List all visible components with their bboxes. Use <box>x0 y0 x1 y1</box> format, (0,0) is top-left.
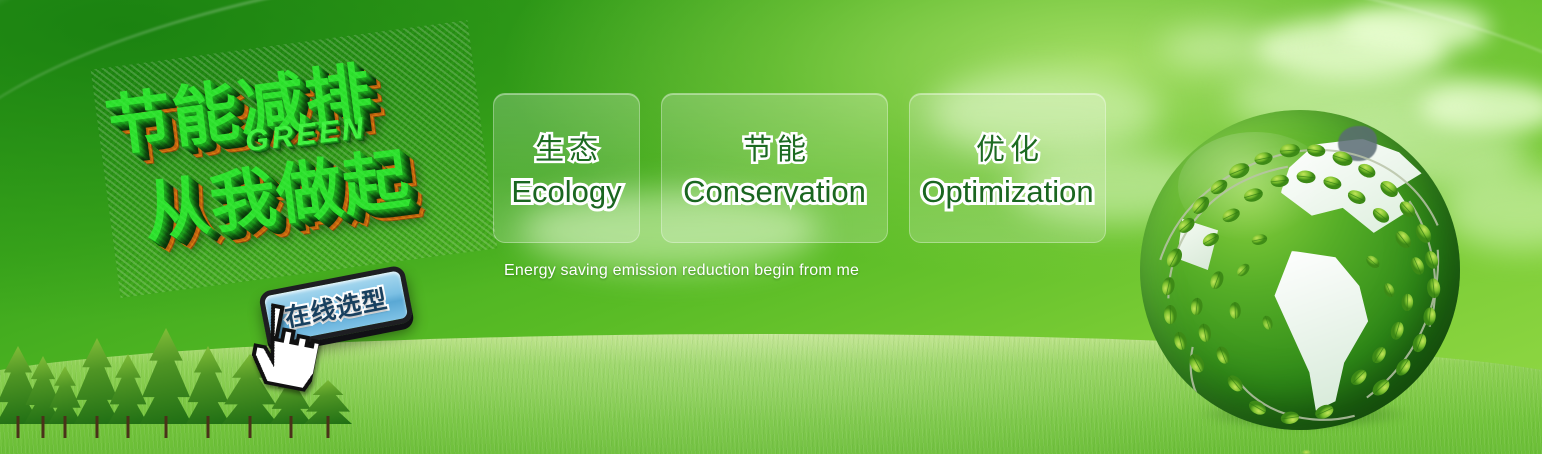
feature-panels: 生态 Ecology 节能 Conservation 优化 Optimizati… <box>493 93 1106 243</box>
feature-panel-ecology[interactable]: 生态 Ecology <box>493 93 640 243</box>
conifer-tree-icon <box>304 380 352 438</box>
panel-label-cn: 节能 <box>738 126 811 168</box>
panel-label-en: Ecology <box>511 174 621 210</box>
tagline-text: Energy saving emission reduction begin f… <box>504 262 859 280</box>
panel-label-cn: 生态 <box>530 126 603 168</box>
continent-south-america <box>1268 251 1377 411</box>
panel-label-en: Conservation <box>683 174 866 210</box>
eco-banner: 节能减排 GREEN 从我做起 在线选型 生态 Ecology 节能 Conse… <box>0 0 1542 454</box>
feature-panel-conservation[interactable]: 节能 Conservation <box>661 93 888 243</box>
ivy-covered-globe-icon <box>1140 110 1460 430</box>
globe-sphere <box>1140 110 1460 430</box>
panel-label-cn: 优化 <box>971 126 1044 168</box>
panel-label-en: Optimization <box>921 174 1093 210</box>
feature-panel-optimization[interactable]: 优化 Optimization <box>909 93 1106 243</box>
globe-highlight <box>1178 132 1332 241</box>
continent-greenland <box>1338 126 1376 161</box>
conifer-tree-icon <box>140 322 192 438</box>
headline-3d: 节能减排 GREEN 从我做起 <box>91 20 498 298</box>
